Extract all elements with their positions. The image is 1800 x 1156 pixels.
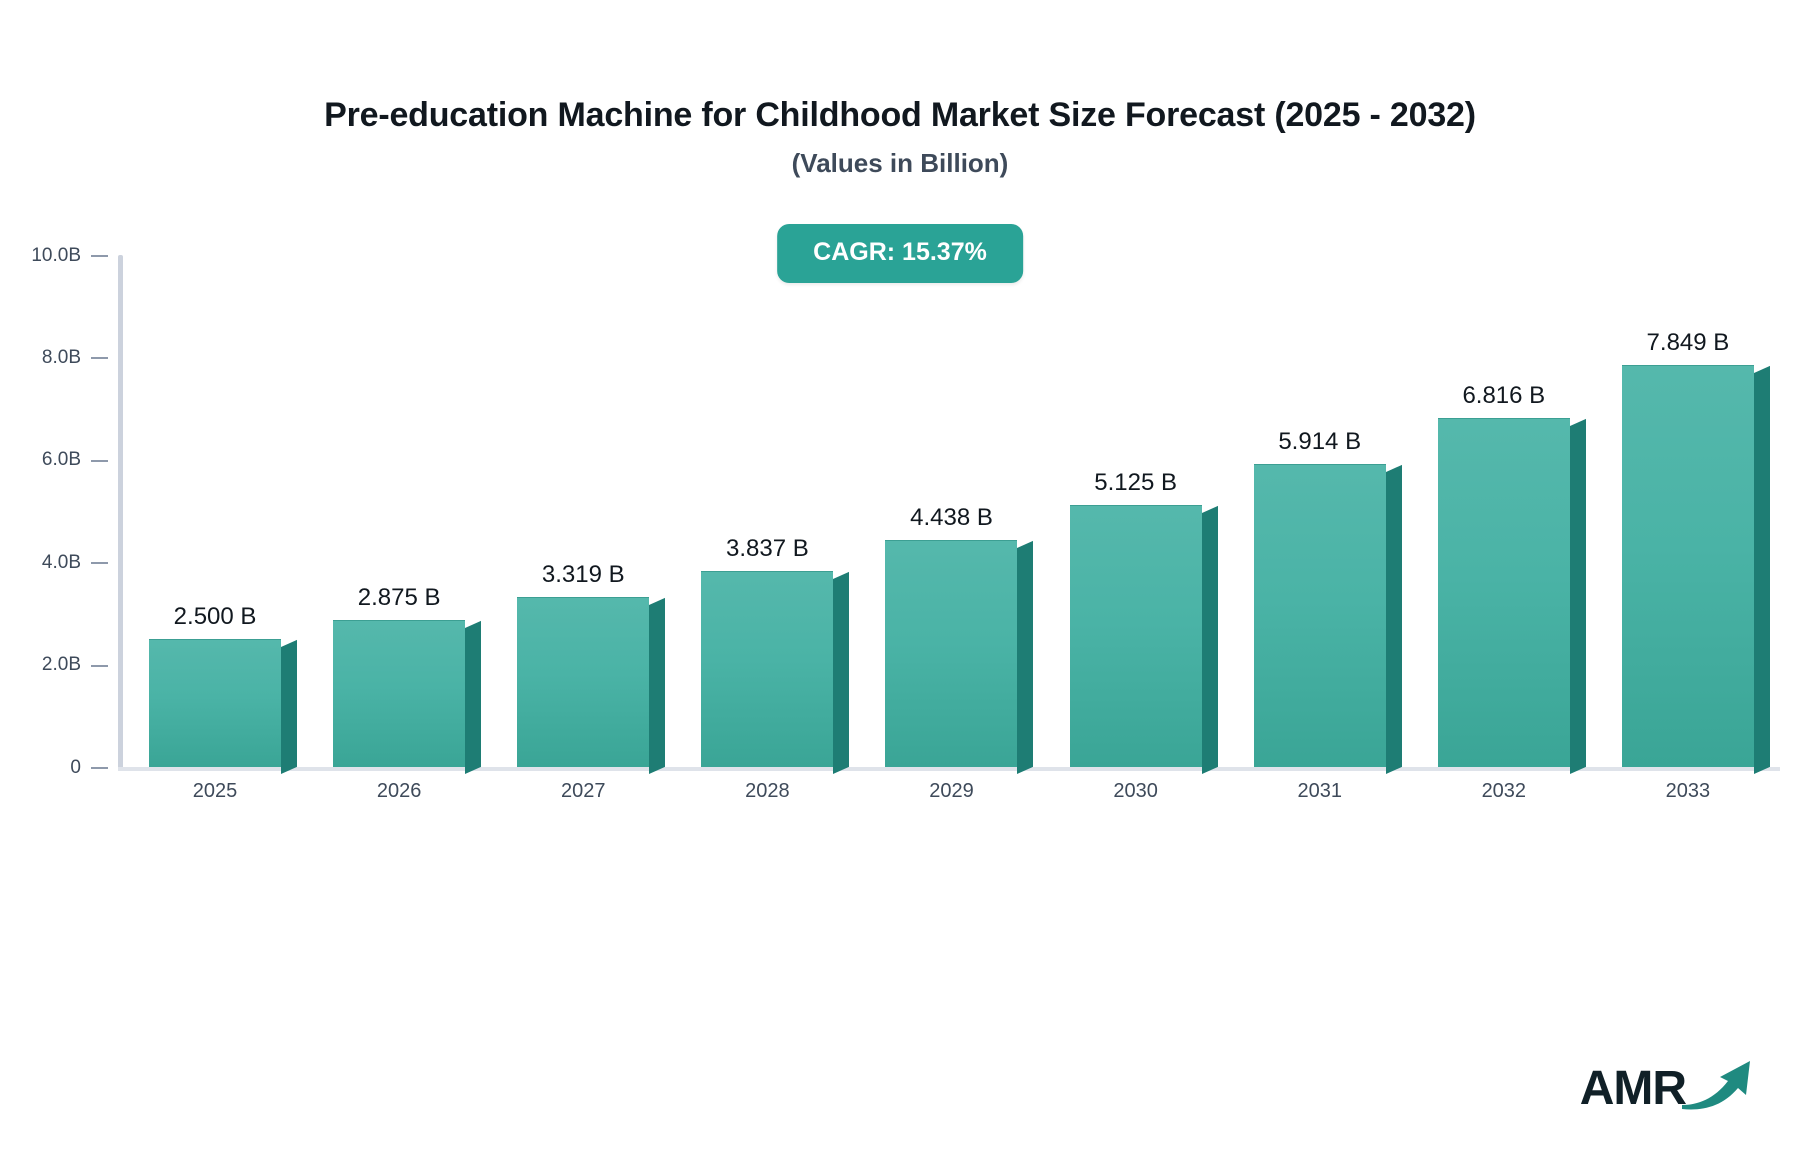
x-axis-line <box>118 767 1780 771</box>
bar-slot: 5.914 B <box>1228 255 1412 767</box>
bar-front-face: 3.319 B <box>517 597 649 767</box>
bar-front-face: 4.438 B <box>885 540 1017 767</box>
y-axis-tick: 4.0B <box>0 562 118 564</box>
y-axis-tick: 0 <box>0 767 118 769</box>
y-axis-tick-label: 6.0B <box>42 450 81 471</box>
bar-front-face: 5.914 B <box>1254 464 1386 767</box>
plot-area: 10.0B8.0B6.0B4.0B2.0B0 2.500 B2.875 B3.3… <box>118 255 1800 771</box>
x-axis-label: 2027 <box>491 780 675 803</box>
bar[interactable]: 3.319 B <box>517 597 649 767</box>
y-axis-tick: 2.0B <box>0 665 118 667</box>
bar[interactable]: 5.914 B <box>1254 464 1386 767</box>
y-axis-tick: 10.0B <box>0 255 118 257</box>
bar-side-face <box>1386 465 1402 774</box>
y-axis-tick-label: 0 <box>70 758 81 779</box>
bar-slot: 4.438 B <box>860 255 1044 767</box>
bar-front-face: 6.816 B <box>1438 418 1570 767</box>
y-axis-tick-mark <box>91 255 108 257</box>
bar-side-face <box>1754 366 1770 774</box>
bar[interactable]: 3.837 B <box>701 571 833 767</box>
bar-front-face: 2.875 B <box>333 620 465 767</box>
chart-canvas: Pre-education Machine for Childhood Mark… <box>0 0 1800 1156</box>
bar[interactable]: 4.438 B <box>885 540 1017 767</box>
bar-slot: 3.837 B <box>675 255 859 767</box>
bar-slot: 3.319 B <box>491 255 675 767</box>
bar-slot: 5.125 B <box>1044 255 1228 767</box>
bar-slot: 6.816 B <box>1412 255 1596 767</box>
bar-slot: 7.849 B <box>1596 255 1780 767</box>
bar-series: 2.500 B2.875 B3.319 B3.837 B4.438 B5.125… <box>123 255 1780 767</box>
bar[interactable]: 6.816 B <box>1438 418 1570 767</box>
x-axis-label: 2030 <box>1044 780 1228 803</box>
bar-value-label: 2.875 B <box>358 584 441 612</box>
bar-side-face <box>1570 419 1586 774</box>
bar-value-label: 3.319 B <box>542 561 625 589</box>
bar[interactable]: 5.125 B <box>1070 505 1202 767</box>
amr-logo: AMR <box>1580 1055 1758 1122</box>
y-axis-tick-label: 10.0B <box>31 246 81 267</box>
bar-value-label: 5.125 B <box>1094 469 1177 497</box>
bar-front-face: 5.125 B <box>1070 505 1202 767</box>
x-axis-label: 2029 <box>860 780 1044 803</box>
y-axis-tick-mark <box>91 767 108 769</box>
bar-side-face <box>1202 505 1218 774</box>
logo-wordmark: AMR <box>1580 1065 1686 1113</box>
bar-value-label: 4.438 B <box>910 504 993 532</box>
y-axis-tick-mark <box>91 562 108 564</box>
bar[interactable]: 7.849 B <box>1622 365 1754 767</box>
y-axis-tick-label: 8.0B <box>42 348 81 369</box>
bar-side-face <box>465 621 481 774</box>
x-axis-label: 2033 <box>1596 780 1780 803</box>
bar-value-label: 5.914 B <box>1278 428 1361 456</box>
y-axis-tick: 6.0B <box>0 460 118 462</box>
bar-side-face <box>1017 541 1033 774</box>
x-axis-label: 2032 <box>1412 780 1596 803</box>
x-axis-label: 2025 <box>123 780 307 803</box>
x-axis-label: 2028 <box>675 780 859 803</box>
bar-value-label: 3.837 B <box>726 535 809 563</box>
bar-slot: 2.875 B <box>307 255 491 767</box>
growth-arrow-icon <box>1680 1055 1758 1116</box>
bar-side-face <box>833 571 849 774</box>
bar-front-face: 3.837 B <box>701 571 833 767</box>
bar[interactable]: 2.500 B <box>149 639 281 767</box>
bar[interactable]: 2.875 B <box>333 620 465 767</box>
y-axis-tick-mark <box>91 357 108 359</box>
bar-value-label: 2.500 B <box>174 603 257 631</box>
chart-title: Pre-education Machine for Childhood Mark… <box>0 96 1800 135</box>
bar-value-label: 6.816 B <box>1462 382 1545 410</box>
bar-front-face: 2.500 B <box>149 639 281 767</box>
y-axis-tick-mark <box>91 665 108 667</box>
y-axis-tick-label: 2.0B <box>42 655 81 676</box>
chart-subtitle: (Values in Billion) <box>0 148 1800 179</box>
y-axis-tick: 8.0B <box>0 357 118 359</box>
x-axis-labels: 202520262027202820292030203120322033 <box>123 780 1780 803</box>
x-axis-label: 2026 <box>307 780 491 803</box>
y-axis-tick-label: 4.0B <box>42 553 81 574</box>
x-axis-label: 2031 <box>1228 780 1412 803</box>
bar-side-face <box>649 598 665 774</box>
bar-side-face <box>281 640 297 774</box>
y-axis-tick-mark <box>91 460 108 462</box>
bar-front-face: 7.849 B <box>1622 365 1754 767</box>
bar-slot: 2.500 B <box>123 255 307 767</box>
bar-value-label: 7.849 B <box>1647 329 1730 357</box>
